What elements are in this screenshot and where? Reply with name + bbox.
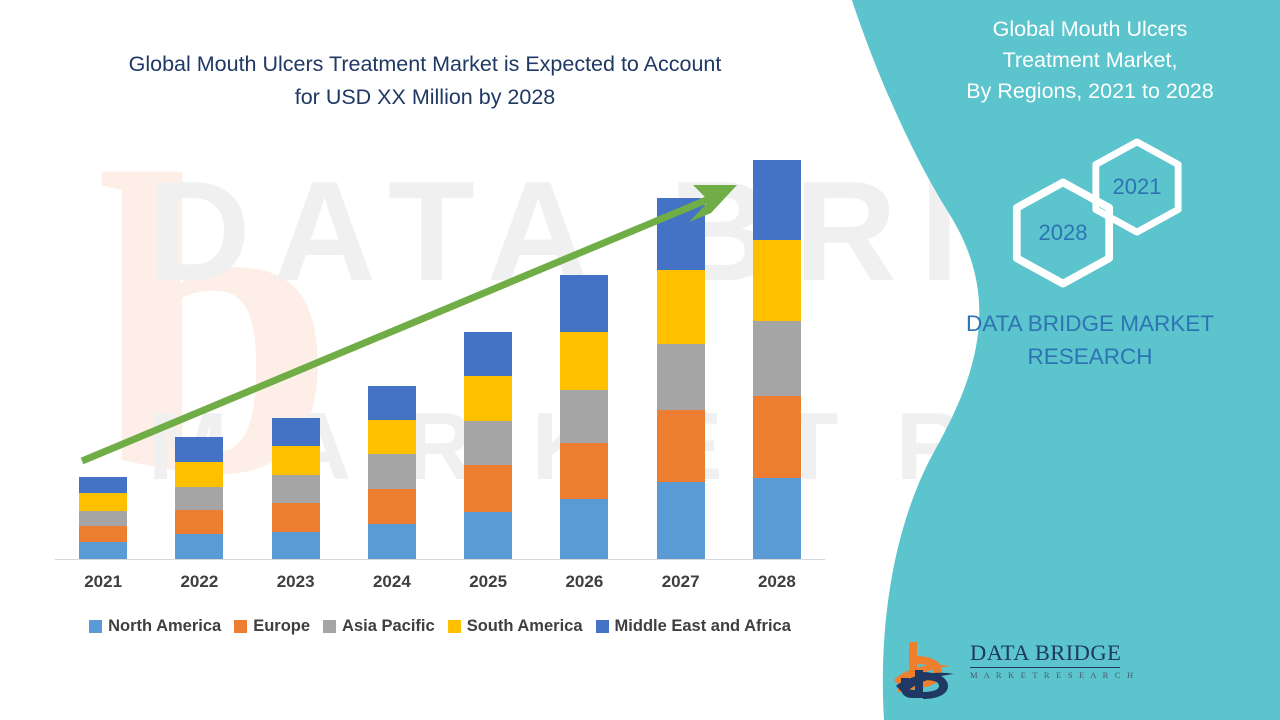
logo-wordmark: DATA BRIDGE M A R K E T R E S E A R C H <box>970 640 1120 680</box>
hexagon-label-2028: 2028 <box>1039 220 1088 246</box>
panel-brand-line-2: RESEARCH <box>900 341 1280 374</box>
legend-label: Asia Pacific <box>342 617 435 636</box>
legend-item[interactable]: Middle East and Africa <box>596 617 791 636</box>
legend-item[interactable]: South America <box>448 617 583 636</box>
legend-swatch-icon <box>596 620 609 633</box>
logo-tagline: M A R K E T R E S E A R C H <box>970 670 1120 680</box>
legend-swatch-icon <box>89 620 102 633</box>
logo-divider <box>970 667 1120 668</box>
legend-item[interactable]: North America <box>89 617 221 636</box>
panel-brand-line-1: DATA BRIDGE MARKET <box>900 308 1280 341</box>
panel-title-line-3: By Regions, 2021 to 2028 <box>900 76 1280 107</box>
legend-swatch-icon <box>234 620 247 633</box>
legend-item[interactable]: Asia Pacific <box>323 617 435 636</box>
logo-name: DATA BRIDGE <box>970 640 1120 666</box>
data-bridge-logo-icon <box>890 636 962 702</box>
legend-swatch-icon <box>448 620 461 633</box>
panel-title-line-2: Treatment Market, <box>900 45 1280 76</box>
panel-title: Global Mouth Ulcers Treatment Market, By… <box>900 14 1280 108</box>
legend-swatch-icon <box>323 620 336 633</box>
panel-title-line-1: Global Mouth Ulcers <box>900 14 1280 45</box>
panel-brand-text: DATA BRIDGE MARKET RESEARCH <box>900 308 1280 373</box>
panel-content: Global Mouth Ulcers Treatment Market, By… <box>900 0 1280 720</box>
legend-label: Middle East and Africa <box>615 617 791 636</box>
company-logo: DATA BRIDGE M A R K E T R E S E A R C H <box>890 636 1120 702</box>
hexagon-badge-2028: 2028 <box>1008 178 1118 288</box>
hexagon-badges: 2021 2028 <box>900 138 1280 273</box>
legend-item[interactable]: Europe <box>234 617 310 636</box>
chart-legend: North AmericaEuropeAsia PacificSouth Ame… <box>55 617 825 636</box>
legend-label: Europe <box>253 617 310 636</box>
slide-canvas: b DATA BRIDGE M A R K E T R E S E A R C … <box>0 0 1280 720</box>
legend-label: South America <box>467 617 583 636</box>
hexagon-label-2021: 2021 <box>1113 174 1162 200</box>
legend-label: North America <box>108 617 221 636</box>
